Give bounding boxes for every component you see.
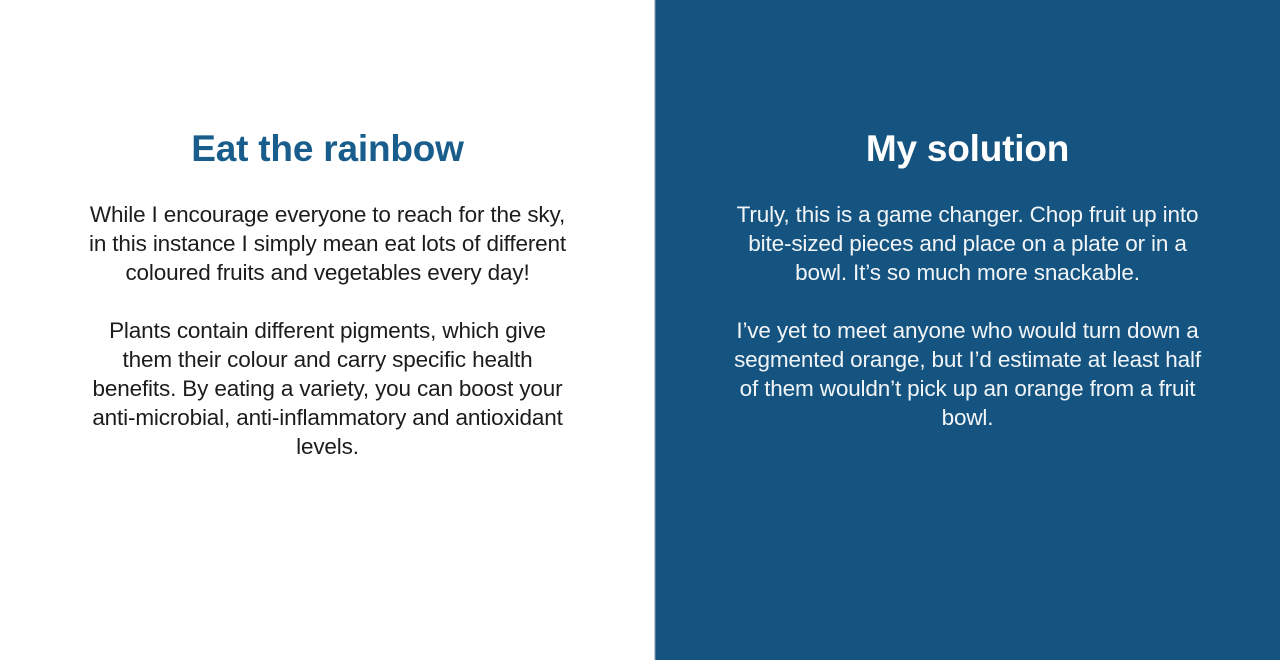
right-paragraph-2: I’ve yet to meet anyone who would turn d… bbox=[729, 316, 1207, 432]
right-panel-body: Truly, this is a game changer. Chop frui… bbox=[729, 200, 1207, 432]
two-column-slide: Eat the rainbow While I encourage everyo… bbox=[0, 0, 1280, 660]
left-panel: Eat the rainbow While I encourage everyo… bbox=[0, 0, 655, 660]
right-paragraph-1: Truly, this is a game changer. Chop frui… bbox=[729, 200, 1207, 287]
left-paragraph-2: Plants contain different pigments, which… bbox=[89, 316, 567, 461]
left-panel-heading: Eat the rainbow bbox=[191, 127, 463, 171]
left-paragraph-1: While I encourage everyone to reach for … bbox=[89, 200, 567, 287]
right-panel-heading: My solution bbox=[866, 127, 1069, 171]
panel-divider bbox=[654, 0, 656, 660]
left-panel-body: While I encourage everyone to reach for … bbox=[89, 200, 567, 461]
right-panel: My solution Truly, this is a game change… bbox=[655, 0, 1280, 660]
